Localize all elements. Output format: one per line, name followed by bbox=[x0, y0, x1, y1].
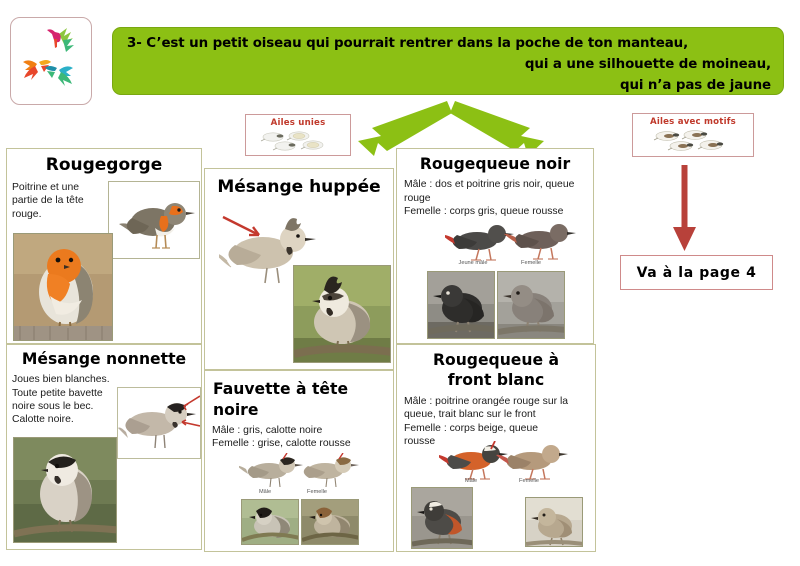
plain-wings-birds-icon bbox=[246, 129, 350, 158]
blackcap-silhouette-pair-icon bbox=[239, 453, 363, 493]
card-rougegorge[interactable]: Rougegorge Poitrine et une partie de la … bbox=[6, 148, 202, 344]
rougequeue-noir-silhouette-label-young-male: Jeune mâle bbox=[447, 260, 499, 266]
common-redstart-female-photo bbox=[525, 497, 583, 547]
marsh-tit-side-view-icon bbox=[117, 387, 201, 459]
blackcap-male-photo bbox=[241, 499, 299, 545]
logo-box bbox=[10, 17, 92, 105]
rougequeue-noir-silhouette-label-female: Femelle bbox=[509, 260, 553, 266]
common-redstart-silhouette-pair-icon bbox=[439, 441, 579, 483]
card-fauvette-title: Fauvette à tête noire bbox=[213, 380, 348, 419]
card-rougequeue-noir[interactable]: Rougequeue noir Mâle : dos et poitrine g… bbox=[396, 148, 594, 344]
card-mesange-nonnette-description: Joues bien blanches. Toute petite bavett… bbox=[7, 373, 119, 426]
wing-type-plain-label: Ailes unies bbox=[246, 118, 350, 128]
three-hummingbirds-logo bbox=[15, 22, 89, 102]
card-mesange-huppee-title: Mésange huppée bbox=[205, 178, 393, 197]
card-fauvette-description-male: Mâle : gris, calotte noire bbox=[205, 424, 393, 437]
wing-type-plain-box[interactable]: Ailes unies bbox=[245, 114, 351, 156]
riddle-banner: 3- C’est un petit oiseau qui pourrait re… bbox=[112, 27, 784, 95]
card-rougequeue-noir-description-male: Mâle : dos et poitrine gris noir, queue … bbox=[397, 178, 593, 205]
marsh-tit-on-branch-photo bbox=[13, 437, 117, 543]
wing-type-patterned-label: Ailes avec motifs bbox=[633, 117, 753, 127]
card-rougequeue-noir-description-female: Femelle : corps gris, queue rousse bbox=[397, 205, 593, 218]
card-rougequeue-front-blanc-title-line2: front blanc bbox=[397, 372, 595, 389]
rougequeue-front-blanc-silhouette-label-male: Mâle bbox=[451, 478, 491, 484]
fauvette-silhouette-label-male: Mâle bbox=[245, 489, 285, 495]
card-rougequeue-noir-title: Rougequeue noir bbox=[397, 156, 593, 173]
worksheet-page: 3- C’est un petit oiseau qui pourrait re… bbox=[0, 0, 800, 566]
go-to-page-4-label: Va à la page 4 bbox=[637, 265, 757, 281]
card-mesange-nonnette[interactable]: Mésange nonnette Joues bien blanches. To… bbox=[6, 344, 202, 550]
card-fauvette-tete-noire[interactable]: Fauvette à tête noire Mâle : gris, calot… bbox=[204, 370, 394, 552]
black-redstart-female-photo bbox=[497, 271, 565, 339]
card-mesange-huppee[interactable]: Mésange huppée bbox=[204, 168, 394, 370]
card-rougequeue-front-blanc-title-line1: Rougequeue à bbox=[397, 352, 595, 369]
go-to-page-4-button[interactable]: Va à la page 4 bbox=[620, 255, 773, 290]
patterned-wings-birds-icon bbox=[633, 128, 753, 159]
card-fauvette-description-female: Femelle : grise, calotte rousse bbox=[205, 437, 393, 450]
card-rougequeue-front-blanc-description-male: Mâle : poitrine orangée rouge sur la que… bbox=[397, 395, 595, 422]
riddle-line-2: qui a une silhouette de moineau, bbox=[127, 55, 771, 76]
card-mesange-nonnette-title: Mésange nonnette bbox=[7, 351, 201, 368]
black-redstart-silhouette-pair-icon bbox=[445, 221, 585, 265]
card-rougegorge-title: Rougegorge bbox=[7, 156, 201, 175]
riddle-line-3: qui n’a pas de jaune bbox=[127, 76, 771, 97]
common-redstart-male-photo bbox=[411, 487, 473, 549]
riddle-line-1: 3- C’est un petit oiseau qui pourrait re… bbox=[127, 34, 771, 55]
robin-side-view-icon bbox=[108, 181, 200, 259]
robin-perched-photo bbox=[13, 233, 113, 341]
crested-tit-photo bbox=[293, 265, 391, 363]
black-redstart-male-photo bbox=[427, 271, 495, 339]
wing-type-patterned-box[interactable]: Ailes avec motifs bbox=[632, 113, 754, 157]
rougequeue-front-blanc-silhouette-label-female: Femelle bbox=[509, 478, 549, 484]
arrow-down-icon bbox=[665, 165, 705, 253]
fauvette-silhouette-label-female: Femelle bbox=[297, 489, 337, 495]
card-rougegorge-description: Poitrine et une partie de la tête rouge. bbox=[7, 181, 107, 221]
card-rougequeue-front-blanc[interactable]: Rougequeue à front blanc Mâle : poitrine… bbox=[396, 344, 596, 552]
blackcap-female-photo bbox=[301, 499, 359, 545]
